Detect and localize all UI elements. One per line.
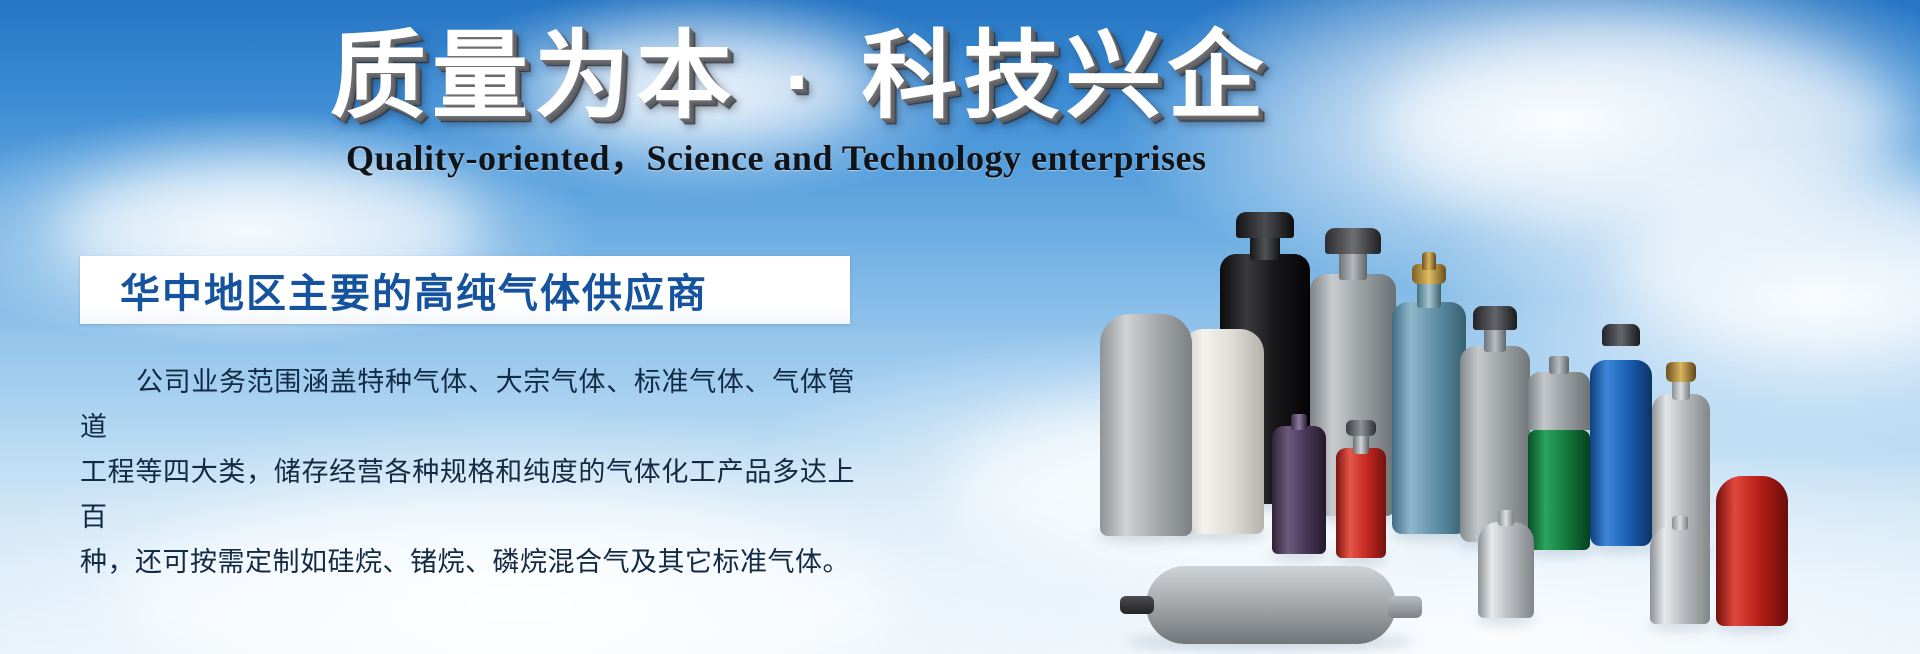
paragraph-line: 工程等四大类，储存经营各种规格和纯度的气体化工产品多达上百 xyxy=(80,450,855,540)
small-aluminium-bottle xyxy=(1650,504,1710,624)
banner-headline: 质量为本 · 科技兴企 xyxy=(330,22,1270,137)
red-small-cylinder xyxy=(1336,398,1386,558)
headline-part-left: 质量为本 xyxy=(330,20,738,132)
purple-small-cylinder xyxy=(1272,404,1326,554)
teal-cylinder xyxy=(1392,234,1466,534)
light-grey-cylinder xyxy=(1100,286,1192,536)
paragraph-line: 公司业务范围涵盖特种气体、大宗气体、标准气体、气体管道 xyxy=(80,360,855,450)
gas-cylinder-illustration xyxy=(1160,150,1920,654)
banner-paragraph: 公司业务范围涵盖特种气体、大宗气体、标准气体、气体管道 工程等四大类，储存经营各… xyxy=(80,360,855,585)
horizontal-grey-tank xyxy=(1120,558,1420,644)
dark-red-cylinder xyxy=(1716,446,1788,626)
headline-separator-dot: · xyxy=(777,42,822,124)
blue-cylinder xyxy=(1590,306,1652,546)
paragraph-line: 种，还可按需定制如硅烷、锗烷、磷烷混合气及其它标准气体。 xyxy=(80,540,855,585)
small-aluminium-bottle xyxy=(1478,498,1534,618)
green-cylinder xyxy=(1528,350,1590,550)
highlight-bar-text: 华中地区主要的高纯气体供应商 xyxy=(120,261,708,319)
headline-part-right: 科技兴企 xyxy=(861,20,1269,132)
highlight-bar: 华中地区主要的高纯气体供应商 xyxy=(80,256,850,324)
white-cylinder xyxy=(1180,304,1264,534)
banner-subheadline: Quality-oriented，Science and Technology … xyxy=(346,136,1246,180)
hero-banner: 质量为本 · 科技兴企 Quality-oriented，Science and… xyxy=(0,0,1920,654)
